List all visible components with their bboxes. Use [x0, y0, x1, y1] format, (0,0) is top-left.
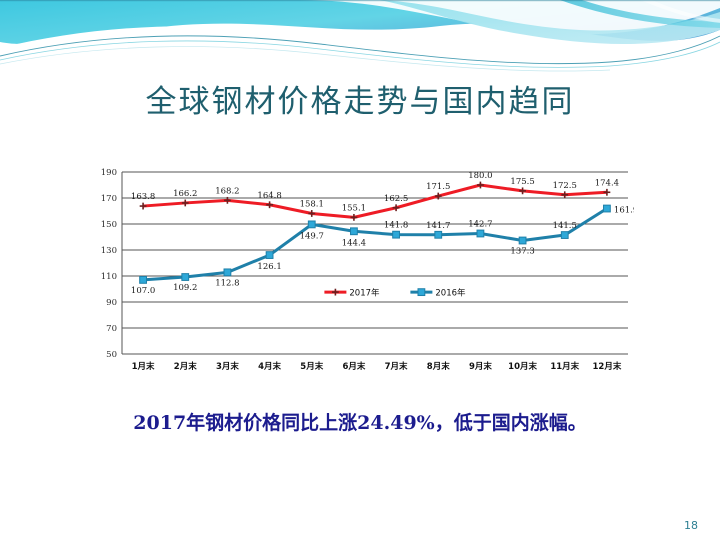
data-label: 107.0: [131, 286, 155, 296]
data-point-marker: [604, 205, 611, 212]
legend-marker: [418, 289, 425, 296]
data-label: 162.5: [384, 194, 408, 204]
y-axis-tick-label: 70: [106, 324, 117, 334]
x-axis-tick-label: 3月末: [216, 361, 239, 372]
data-label: 137.3: [510, 247, 534, 257]
data-label: 141.7: [426, 221, 450, 231]
data-label: 144.4: [342, 238, 366, 248]
y-axis-tick-label: 150: [101, 220, 117, 230]
data-point-marker: [435, 231, 442, 238]
x-axis-tick-label: 6月末: [342, 361, 365, 372]
plot-background: [122, 172, 628, 354]
x-axis-tick-label: 1月末: [132, 361, 155, 372]
y-axis-tick-label: 190: [101, 168, 117, 178]
data-label: 174.4: [595, 178, 619, 188]
data-point-marker: [140, 277, 147, 284]
x-axis-tick-label: 7月末: [385, 361, 408, 372]
x-axis-tick-label: 5月末: [300, 361, 323, 372]
data-point-marker: [308, 221, 315, 228]
x-axis-tick-label: 12月末: [592, 361, 621, 372]
page-number: 18: [684, 519, 698, 532]
line-chart: 5070901101301501701901月末2月末3月末4月末5月末6月末7…: [86, 160, 634, 380]
data-label: 163.8: [131, 192, 155, 202]
data-point-marker: [561, 232, 568, 239]
slide-caption: 2017年钢材价格同比上涨24.49%，低于国内涨幅。: [0, 408, 720, 435]
data-label: 164.8: [257, 191, 281, 201]
wave-graphic: [0, 0, 720, 72]
legend-label-2017年: 2017年: [349, 287, 380, 298]
data-point-marker: [182, 274, 189, 281]
y-axis-tick-label: 50: [106, 350, 117, 360]
data-label: 126.1: [257, 262, 281, 272]
slide-root: 全球钢材价格走势与国内趋同 5070901101301501701901月末2月…: [0, 0, 720, 540]
data-label: 158.1: [300, 199, 324, 209]
x-axis-tick-label: 9月末: [469, 361, 492, 372]
x-axis-tick-label: 8月末: [427, 361, 450, 372]
y-axis-tick-label: 130: [101, 246, 117, 256]
decorative-wave-banner: [0, 0, 720, 72]
data-point-marker: [519, 237, 526, 244]
data-label: 180.0: [468, 171, 492, 181]
y-axis-tick-label: 90: [106, 298, 117, 308]
data-label: 168.2: [215, 186, 239, 196]
data-point-marker: [393, 231, 400, 238]
data-label: 141.8: [384, 221, 408, 231]
data-label: 141.5: [553, 221, 577, 231]
y-axis-tick-label: 110: [101, 272, 117, 282]
data-label: 161.9: [614, 206, 634, 216]
x-axis-tick-label: 4月末: [258, 361, 281, 372]
data-point-marker: [266, 252, 273, 259]
data-label: 142.7: [468, 219, 492, 229]
x-axis-tick-label: 11月末: [550, 361, 579, 372]
data-label: 175.5: [510, 177, 534, 187]
data-point-marker: [477, 230, 484, 237]
chart-canvas: 5070901101301501701901月末2月末3月末4月末5月末6月末7…: [86, 160, 634, 380]
data-label: 112.8: [215, 278, 239, 288]
data-point-marker: [224, 269, 231, 276]
data-label: 172.5: [553, 181, 577, 191]
data-label: 149.7: [300, 231, 324, 241]
data-point-marker: [351, 228, 358, 235]
x-axis-tick-label: 2月末: [174, 361, 197, 372]
y-axis-tick-label: 170: [101, 194, 117, 204]
slide-title: 全球钢材价格走势与国内趋同: [0, 76, 720, 121]
data-label: 171.5: [426, 182, 450, 192]
legend-label-2016年: 2016年: [435, 287, 466, 298]
data-label: 109.2: [173, 283, 197, 293]
x-axis-tick-label: 10月末: [508, 361, 537, 372]
data-label: 166.2: [173, 189, 197, 199]
data-label: 155.1: [342, 203, 366, 213]
